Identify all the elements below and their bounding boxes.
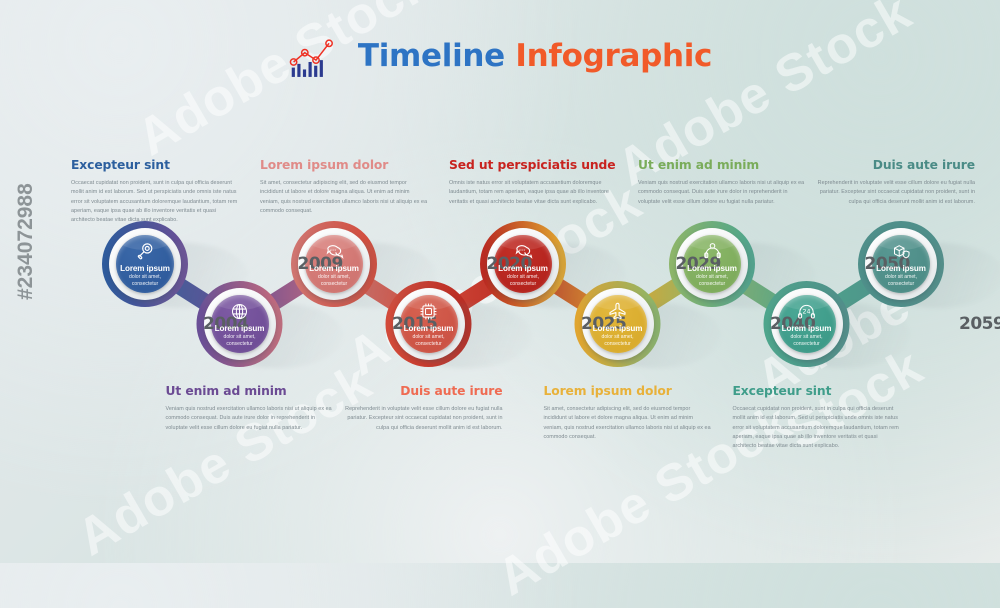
page-header: Timeline Infographic [0,34,1000,78]
headset-support-icon [702,241,723,262]
block-body: Omnis iste natus error sit voluptatem ac… [449,179,617,207]
node-caption: Lorem ipsumdolor sit amet, consectetur [116,264,174,287]
node-face: Lorem ipsumdolor sit amet, consectetur [116,235,174,293]
block-body: Veniam quis nostrud exercitation ullamco… [166,405,334,433]
node-caption-line2: dolor sit amet, consectetur [211,334,269,347]
bar-chart-line-icon [288,34,344,78]
node-caption: Lorem ipsumdolor sit amet, consectetur [778,324,836,347]
page-title: Timeline Infographic [358,38,712,74]
block-heading: Ut enim ad minim [638,158,806,172]
node-face: Lorem ipsumdolor sit amet, consectetur [400,295,458,353]
node-face: Lorem ipsumdolor sit amet, consectetur [589,295,647,353]
node-caption-line2: dolor sit amet, consectetur [305,274,363,287]
node-caption-line1: Lorem ipsum [778,324,836,334]
block-heading: Excepteur sint [733,384,901,398]
text-block-2050: Excepteur sintOccaecat cupidatat non pro… [733,384,901,451]
text-block-2029: Lorem ipsum dolorSit amet, consectetur a… [544,384,712,442]
block-heading: Duis aute irure [335,384,503,398]
text-block-2004: Excepteur sintOccaecat cupidatat non pro… [71,158,239,225]
box-shield-icon [891,241,912,262]
node-caption-line1: Lorem ipsum [589,324,647,334]
timeline-node-2004[interactable]: Lorem ipsumdolor sit amet, consectetur [102,221,188,307]
block-heading: Sed ut perspiciatis unde [449,158,617,172]
magnifier-icon [135,241,156,262]
chat-bubble-icon [324,241,345,262]
node-caption-line1: Lorem ipsum [305,264,363,274]
text-block-2015: Lorem ipsum dolorSit amet, consectetur a… [260,158,428,216]
node-caption-line1: Lorem ipsum [683,264,741,274]
node-caption-line1: Lorem ipsum [211,324,269,334]
text-block-2009: Ut enim ad minimVeniam quis nostrud exer… [166,384,334,433]
node-caption-line1: Lorem ipsum [872,264,930,274]
node-caption-line2: dolor sit amet, consectetur [494,274,552,287]
text-block-2020: Duis aute irureReprehenderit in voluptat… [335,384,503,433]
node-caption-line1: Lorem ipsum [116,264,174,274]
block-heading: Lorem ipsum dolor [260,158,428,172]
airplane-icon [607,301,628,322]
node-face: Lorem ipsumdolor sit amet, consectetur [494,235,552,293]
chat-bubble-icon [513,241,534,262]
node-caption-line2: dolor sit amet, consectetur [400,334,458,347]
node-face: Lorem ipsumdolor sit amet, consectetur [683,235,741,293]
node-caption: Lorem ipsumdolor sit amet, consectetur [400,324,458,347]
node-caption: Lorem ipsumdolor sit amet, consectetur [683,264,741,287]
node-caption-line2: dolor sit amet, consectetur [872,274,930,287]
watermark-tile: Adobe Stock [127,0,442,168]
block-heading: Excepteur sint [71,158,239,172]
node-caption: Lorem ipsumdolor sit amet, consectetur [211,324,269,347]
block-body: Sit amet, consectetur adipiscing elit, s… [544,405,712,442]
node-face: Lorem ipsumdolor sit amet, consectetur [305,235,363,293]
globe-icon [229,301,250,322]
block-heading: Duis aute irure [807,158,975,172]
year-label-2059: 2059 [959,314,1000,334]
node-caption-line2: dolor sit amet, consectetur [589,334,647,347]
node-face: Lorem ipsumdolor sit amet, consectetur [211,295,269,353]
node-caption: Lorem ipsumdolor sit amet, consectetur [589,324,647,347]
svg-text:24: 24 [802,309,810,316]
block-heading: Lorem ipsum dolor [544,384,712,398]
node-caption-line2: dolor sit amet, consectetur [116,274,174,287]
node-caption: Lorem ipsumdolor sit amet, consectetur [305,264,363,287]
node-caption: Lorem ipsumdolor sit amet, consectetur [494,264,552,287]
title-secondary: Infographic [515,38,712,74]
node-face: Lorem ipsumdolor sit amet, consectetur [872,235,930,293]
block-body: Reprehenderit in voluptate velit esse ci… [807,179,975,207]
text-block-2025: Sed ut perspiciatis undeOmnis iste natus… [449,158,617,207]
node-face: 24Lorem ipsumdolor sit amet, consectetur [778,295,836,353]
block-body: Occaecat cupidatat non proident, sunt in… [733,405,901,451]
block-body: Veniam quis nostrud exercitation ullamco… [638,179,806,207]
infographic-canvas: Adobe Stock Adobe Stock Adobe Stock Adob… [0,0,1000,563]
block-heading: Ut enim ad minim [166,384,334,398]
block-body: Reprehenderit in voluptate velit esse ci… [335,405,503,433]
support-24-icon: 24 [796,301,817,322]
block-body: Occaecat cupidatat non proident, sunt in… [71,179,239,225]
node-caption-line2: dolor sit amet, consectetur [778,334,836,347]
title-primary: Timeline [358,38,505,74]
text-block-2040: Ut enim ad minimVeniam quis nostrud exer… [638,158,806,207]
block-body: Sit amet, consectetur adipiscing elit, s… [260,179,428,216]
text-block-2059: Duis aute irureReprehenderit in voluptat… [807,158,975,207]
node-caption-line1: Lorem ipsum [400,324,458,334]
node-caption: Lorem ipsumdolor sit amet, consectetur [872,264,930,287]
node-caption-line1: Lorem ipsum [494,264,552,274]
cpu-chip-icon [418,301,439,322]
node-caption-line2: dolor sit amet, consectetur [683,274,741,287]
